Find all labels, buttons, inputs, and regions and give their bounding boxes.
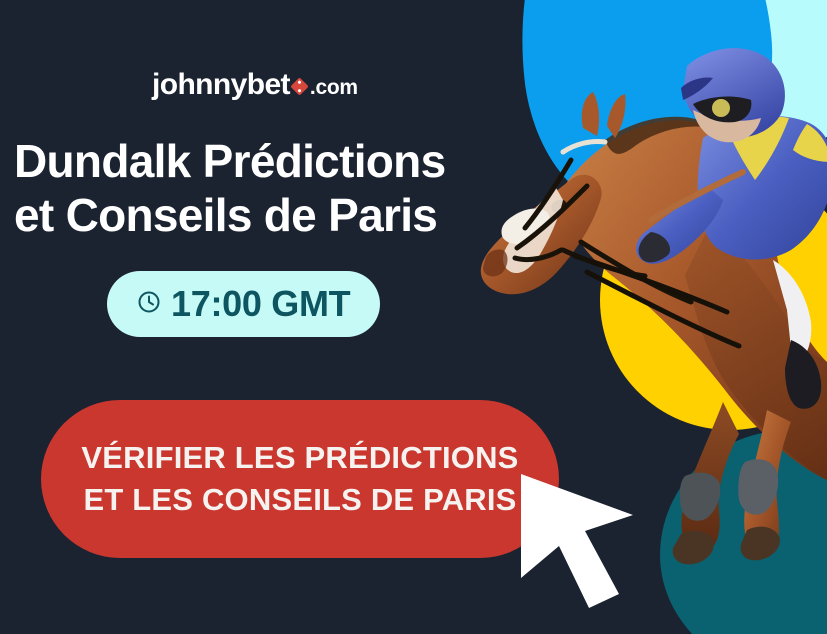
time-label: 17:00 GMT bbox=[171, 283, 350, 325]
cta-button-label: VÉRIFIER LES PRÉDICTIONS ET LES CONSEILS… bbox=[81, 437, 519, 521]
page-title: Dundalk Prédictions et Conseils de Paris bbox=[14, 134, 484, 242]
promo-banner: johnnybet .com Dundalk Prédictions et Co… bbox=[0, 0, 827, 634]
check-predictions-button[interactable]: VÉRIFIER LES PRÉDICTIONS ET LES CONSEILS… bbox=[41, 400, 559, 558]
logo-tld: .com bbox=[310, 76, 358, 100]
logo-wordmark: johnnybet bbox=[152, 68, 290, 102]
clock-icon bbox=[137, 290, 161, 319]
content-column: johnnybet .com Dundalk Prédictions et Co… bbox=[0, 0, 500, 634]
johnnybet-logo[interactable]: johnnybet .com bbox=[152, 68, 358, 102]
dice-icon bbox=[290, 77, 308, 95]
status-badge: 17:00 GMT bbox=[107, 271, 380, 337]
